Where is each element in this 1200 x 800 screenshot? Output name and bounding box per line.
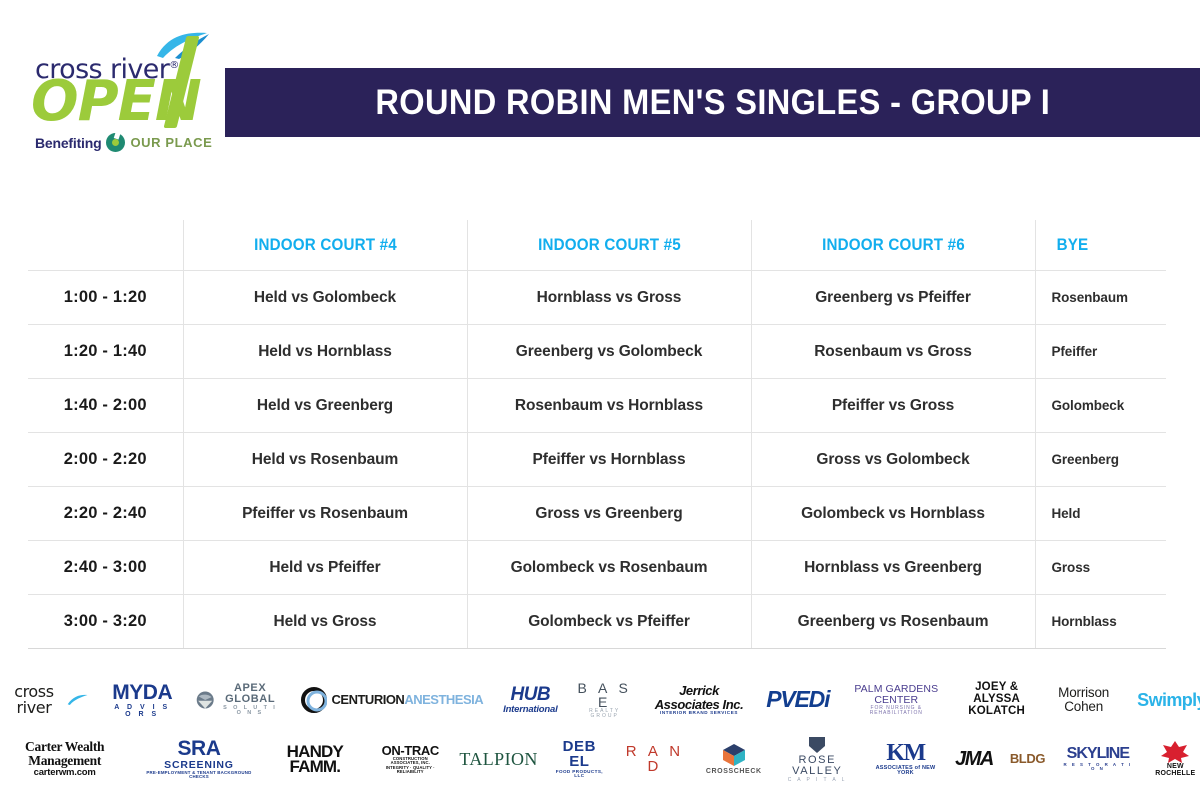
table-row: 3:00 - 3:20 Held vs Gross Golombeck vs P… [28, 595, 1166, 649]
cell-match-court-6: Greenberg vs Pfeiffer [751, 271, 1035, 325]
table-head: INDOOR COURT #4 INDOOR COURT #5 INDOOR C… [28, 220, 1166, 271]
table-body: 1:00 - 1:20 Held vs Golombeck Hornblass … [28, 271, 1166, 649]
sponsor-logo-jerrick-associates: Jerrick Associates Inc.INTERIOR BRAND SE… [652, 684, 746, 715]
cell-bye: Held [1035, 487, 1166, 541]
cell-time: 2:20 - 2:40 [28, 487, 183, 541]
cell-match-court-4: Held vs Hornblass [183, 325, 467, 379]
our-place-leaf-icon [106, 133, 125, 152]
sponsor-logo-hub-international: HUBInternational [503, 685, 557, 714]
cell-match-court-5: Gross vs Greenberg [467, 487, 751, 541]
cell-match-court-5: Rosenbaum vs Hornblass [467, 379, 751, 433]
cell-bye: Greenberg [1035, 433, 1166, 487]
cross-river-open-logo: cross river® OPEN Benefiting OUR PLACE [27, 28, 217, 158]
column-header-court-4: INDOOR COURT #4 [183, 220, 467, 271]
sponsor-logo-centurion-anesthesia: CENTURIONANESTHESIA [301, 687, 484, 713]
table-row: 1:20 - 1:40 Held vs Hornblass Greenberg … [28, 325, 1166, 379]
sponsor-logo-km-associates: KMASSOCIATES of NEW YORK [873, 741, 938, 777]
sponsor-logo-rand: R A N D [621, 744, 689, 775]
cell-match-court-6: Gross vs Golombeck [751, 433, 1035, 487]
table-row: 1:40 - 2:00 Held vs Greenberg Rosenbaum … [28, 379, 1166, 433]
new-rochelle-star-icon [1160, 741, 1190, 763]
page-title: ROUND ROBIN MEN'S SINGLES - GROUP I [375, 83, 1050, 123]
sponsor-logo-apex-global: APEX GLOBALS O L U T I O N S [196, 683, 280, 717]
cell-time: 1:20 - 1:40 [28, 325, 183, 379]
cell-bye: Rosenbaum [1035, 271, 1166, 325]
cell-match-court-5: Hornblass vs Gross [467, 271, 751, 325]
crosscheck-cube-icon [720, 742, 748, 768]
sponsor-logo-kolatch: JOEY & ALYSSAKOLATCH [963, 682, 1030, 717]
table-row: 2:20 - 2:40 Pfeiffer vs Rosenbaum Gross … [28, 487, 1166, 541]
our-place-label: OUR PLACE [130, 135, 212, 150]
cell-match-court-6: Greenberg vs Rosenbaum [751, 595, 1035, 649]
sponsor-logo-morrison-cohen: Morrison Cohen [1050, 686, 1117, 714]
sponsor-logo-base-realty: B A S EREALTY GROUP [578, 681, 632, 720]
table-header-row: INDOOR COURT #4 INDOOR COURT #5 INDOOR C… [28, 220, 1166, 271]
cell-match-court-6: Pfeiffer vs Gross [751, 379, 1035, 433]
table-row: 1:00 - 1:20 Held vs Golombeck Hornblass … [28, 271, 1166, 325]
cell-match-court-5: Golombeck vs Rosenbaum [467, 541, 751, 595]
cell-match-court-4: Held vs Gross [183, 595, 467, 649]
cell-match-court-6: Hornblass vs Greenberg [751, 541, 1035, 595]
sponsor-logo-handy-famm: HANDY FAMM. [269, 744, 361, 775]
cell-match-court-4: Held vs Rosenbaum [183, 433, 467, 487]
schedule-table-container: INDOOR COURT #4 INDOOR COURT #5 INDOOR C… [28, 220, 1156, 649]
column-header-time [28, 220, 183, 271]
logo-wordmark-open: OPEN [31, 74, 201, 130]
cell-bye: Golombeck [1035, 379, 1166, 433]
sponsor-logo-crosscheck: CROSSCHECK [706, 742, 762, 775]
cross-river-mark: cross river [6, 684, 88, 717]
sponsor-logo-new-rochelle: NEW ROCHELLE [1151, 741, 1200, 777]
cell-time: 2:00 - 2:20 [28, 433, 183, 487]
column-header-bye: BYE [1035, 220, 1166, 271]
cell-bye: Gross [1035, 541, 1166, 595]
cell-match-court-4: Held vs Greenberg [183, 379, 467, 433]
cell-match-court-4: Pfeiffer vs Rosenbaum [183, 487, 467, 541]
sponsor-logo-bldg: BLDG [1010, 753, 1045, 765]
table-row: 2:00 - 2:20 Held vs Rosenbaum Pfeiffer v… [28, 433, 1166, 487]
sponsor-logo-cross-river: cross river [6, 684, 88, 717]
cell-time: 1:40 - 2:00 [28, 379, 183, 433]
benefiting-lockup: Benefiting OUR PLACE [35, 133, 212, 152]
sponsor-logo-pvedi: PVEDi [766, 688, 829, 711]
cell-match-court-5: Greenberg vs Golombeck [467, 325, 751, 379]
sponsor-logo-jma: JMA [955, 749, 993, 769]
cell-bye: Pfeiffer [1035, 325, 1166, 379]
sponsor-logo-on-trac: ON-TRACCONSTRUCTION ASSOCIATES, INC.INTE… [378, 744, 442, 774]
round-robin-schedule-table: INDOOR COURT #4 INDOOR COURT #5 INDOOR C… [28, 220, 1166, 649]
cell-match-court-4: Held vs Pfeiffer [183, 541, 467, 595]
sponsor-logo-myda-advisors: MYDAA D V I S O R S [108, 682, 176, 718]
column-header-court-6: INDOOR COURT #6 [751, 220, 1035, 271]
cell-match-court-5: Pfeiffer vs Hornblass [467, 433, 751, 487]
sponsor-logo-palm-gardens-center: PALM GARDENS CENTERFOR NURSING & REHABIL… [849, 684, 943, 716]
cell-time: 2:40 - 3:00 [28, 541, 183, 595]
sponsor-logo-carter-wealth-management: Carter Wealth Managementcarterwm.com [0, 740, 129, 777]
swoosh-icon [67, 691, 88, 709]
sponsor-logo-swimply: Swimply [1137, 691, 1200, 709]
sponsor-bar: cross river MYDAA D V I S O R S APEX GLO… [0, 672, 1200, 800]
cell-match-court-5: Golombeck vs Pfeiffer [467, 595, 751, 649]
table-row: 2:40 - 3:00 Held vs Pfeiffer Golombeck v… [28, 541, 1166, 595]
rose-valley-crest-icon [806, 735, 828, 755]
cell-time: 3:00 - 3:20 [28, 595, 183, 649]
column-header-court-5: INDOOR COURT #5 [467, 220, 751, 271]
sponsor-logo-rose-valley-capital: ROSE VALLEYC A P I T A L [779, 735, 856, 783]
sponsor-row-1: cross river MYDAA D V I S O R S APEX GLO… [0, 672, 1200, 728]
sponsor-logo-deb-el: DEB ELFOOD PRODUCTS, LLC [555, 739, 604, 779]
cell-bye: Hornblass [1035, 595, 1166, 649]
title-banner: ROUND ROBIN MEN'S SINGLES - GROUP I [225, 68, 1200, 137]
cell-time: 1:00 - 1:20 [28, 271, 183, 325]
sponsor-row-2: Carter Wealth Managementcarterwm.com SRA… [0, 728, 1200, 790]
cell-match-court-4: Held vs Golombeck [183, 271, 467, 325]
cell-match-court-6: Golombeck vs Hornblass [751, 487, 1035, 541]
benefiting-label: Benefiting [35, 135, 101, 151]
cell-match-court-6: Rosenbaum vs Gross [751, 325, 1035, 379]
page-header-area: cross river® OPEN Benefiting OUR PLACE R… [0, 0, 1200, 200]
apex-globe-icon [196, 687, 214, 713]
centurion-c-icon [301, 687, 327, 713]
sponsor-logo-sra-screening: SRASCREENINGPRE-EMPLOYMENT & TENANT BACK… [146, 738, 251, 779]
sponsor-logo-skyline-restoration: SKYLINER E S T O R A T I O N [1062, 746, 1134, 771]
sponsor-logo-talpion: TALPION [459, 750, 537, 768]
